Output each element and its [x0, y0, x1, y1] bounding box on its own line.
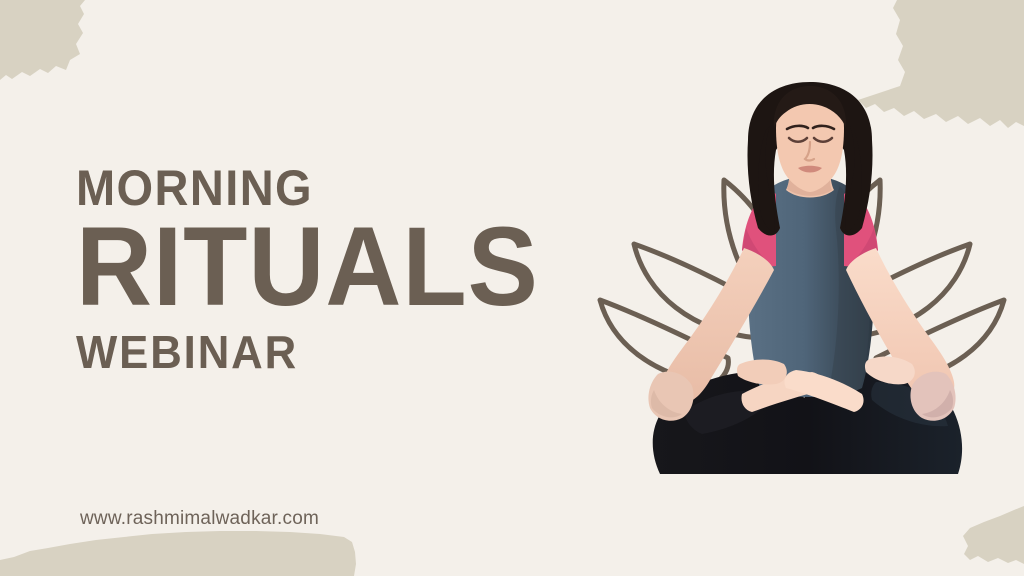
headline-block: MORNING RITUALS WEBINAR — [76, 163, 616, 375]
brush-bottom-right — [963, 506, 1024, 576]
website-url[interactable]: www.rashmimalwadkar.com — [80, 508, 319, 530]
brush-top-left — [0, 0, 85, 80]
brush-bottom-left — [0, 531, 356, 576]
headline-line-rituals: RITUALS — [76, 217, 584, 317]
headline-line-webinar: WEBINAR — [76, 329, 589, 375]
visual-stage — [596, 82, 1008, 482]
poster-canvas: MORNING RITUALS WEBINAR www.rashmimalwad… — [0, 0, 1024, 576]
meditating-woman-photo — [624, 82, 980, 474]
